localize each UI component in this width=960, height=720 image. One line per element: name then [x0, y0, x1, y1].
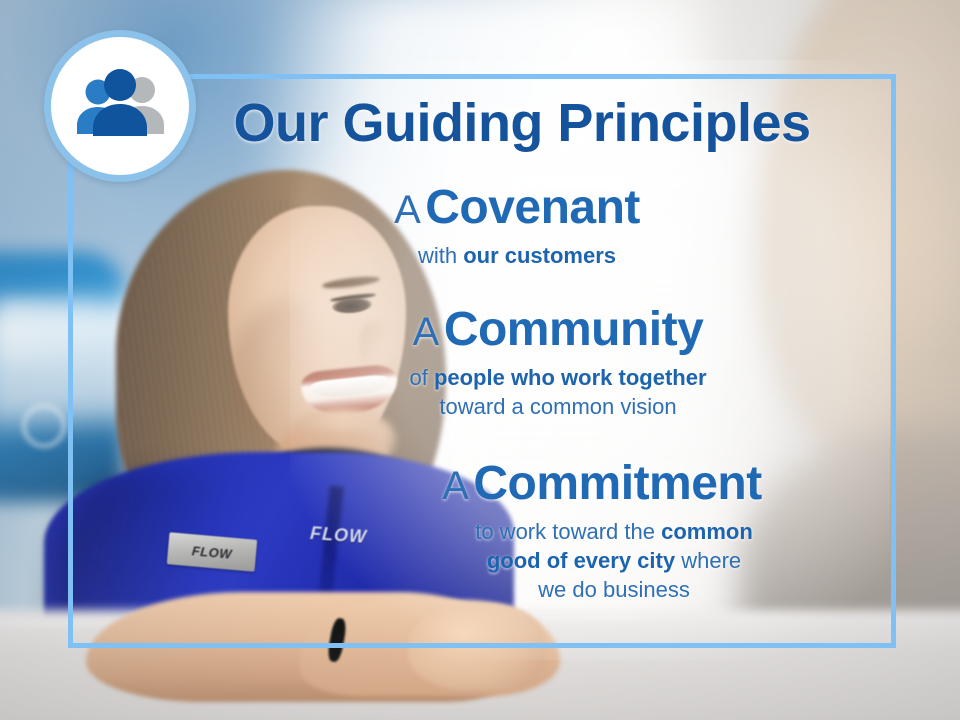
page-title: Our Guiding Principles — [68, 96, 896, 150]
banner-canvas: FLOW FLOW Ou — [0, 0, 960, 720]
principle-covenant-heading: A Covenant — [68, 184, 896, 233]
principle-covenant-article: A — [394, 188, 421, 232]
principle-covenant: A Covenant with our customers — [68, 184, 896, 270]
principle-commitment-subtext: to work toward the commongood of every c… — [68, 517, 896, 604]
principle-commitment-heading: A Commitment — [68, 460, 896, 509]
principle-community-article: A — [413, 310, 440, 354]
principle-community: A Community of people who work togethert… — [68, 306, 896, 421]
principle-community-subtext: of people who work togethertoward a comm… — [68, 363, 896, 421]
principle-commitment-word: Commitment — [473, 457, 761, 510]
content-area: Our Guiding Principles A Covenant with o… — [68, 74, 896, 648]
principle-community-word: Community — [444, 303, 704, 356]
principle-covenant-word: Covenant — [425, 181, 640, 234]
principle-commitment-article: A — [442, 464, 469, 508]
principle-commitment: A Commitment to work toward the commongo… — [68, 460, 896, 604]
principle-covenant-subtext: with our customers — [68, 241, 896, 270]
principle-community-heading: A Community — [68, 306, 896, 355]
